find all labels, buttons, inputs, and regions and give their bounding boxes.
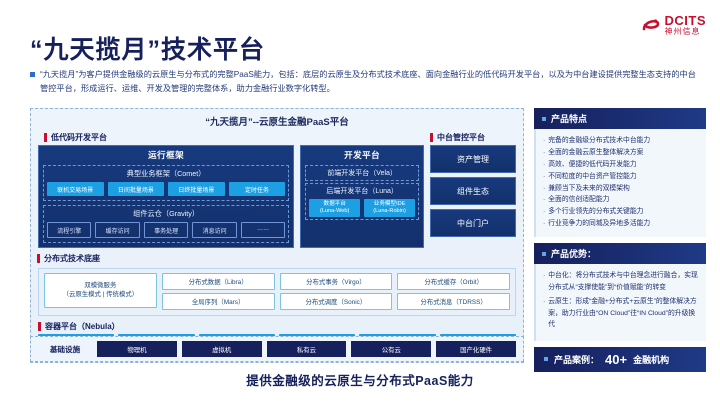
runtime-framework-block: 运行框架 典型业务框架（Comet） 联机交易场景 日间批量场景 日终批量场景 … bbox=[38, 145, 294, 248]
base-col-transaction: 分布式事务（Virgo） 分布式调度（Sonic） bbox=[280, 273, 393, 310]
infrastructure-strip: 基础设施 物理机 虚拟机 私有云 公有云 国产化硬件 bbox=[30, 336, 524, 362]
infra-item-domestic-hardware[interactable]: 国产化硬件 bbox=[436, 341, 516, 357]
product-features-body: 完备的金融级分布式技术中台能力 全面的金融云原生整体解决方案 高效、便捷的低代码… bbox=[534, 129, 706, 237]
page-title: “九天揽月”技术平台 bbox=[30, 30, 265, 66]
control-platform-column: 资产管理 组件生态 中台门户 bbox=[430, 145, 516, 248]
base-cell-orbit[interactable]: 分布式缓存（Orbit） bbox=[397, 273, 510, 290]
section-label-control: 中台管控平台 bbox=[430, 132, 516, 143]
feature-item: 行业竞争力的同城及异地多活能力 bbox=[543, 218, 699, 230]
backend-dev-children: 数据平台 (Luna-Web) 业务模型IDE (Luna-Robin) bbox=[309, 199, 415, 217]
product-cases-suffix: 金融机构 bbox=[633, 353, 669, 366]
comet-chip[interactable]: 日间批量场景 bbox=[108, 182, 165, 196]
base-col-dualmode: 双模微服务 （云原生模式 | 传统模式） bbox=[44, 273, 157, 310]
product-advantages-body: 中台化：将分布式技术与中台理念进行融合，实现分布式从“支撑使能”到“价值赋能”的… bbox=[534, 264, 706, 341]
base-cell-tdrss[interactable]: 分布式消息（TDRSS） bbox=[397, 293, 510, 310]
comet-title: 典型业务框架（Comet） bbox=[47, 168, 285, 182]
dual-mode-microservice[interactable]: 双模微服务 （云原生模式 | 传统模式） bbox=[44, 273, 157, 308]
comet-chip[interactable]: 联机交易场景 bbox=[47, 182, 104, 196]
luna-web-chip[interactable]: 数据平台 (Luna-Web) bbox=[309, 199, 360, 217]
section-label-lowcode: 低代码开发平台 bbox=[44, 132, 424, 143]
product-features-title: 产品特点 bbox=[534, 108, 706, 129]
intro-text: “九天揽月”为客户提供金融级的云原生与分布式的完整PaaS能力，包括：底层的云原… bbox=[40, 68, 702, 95]
diagram-title: “九天揽月”--云原生金融PaaS平台 bbox=[31, 109, 523, 131]
base-cell-virgo[interactable]: 分布式事务（Virgo） bbox=[280, 273, 393, 290]
luna-robin-line2: (Luna-Robin) bbox=[373, 208, 406, 214]
base-col-cache: 分布式缓存（Orbit） 分布式消息（TDRSS） bbox=[397, 273, 510, 310]
base-cell-mars[interactable]: 全局序列（Mars） bbox=[162, 293, 275, 310]
right-rail: 产品特点 完备的金融级分布式技术中台能力 全面的金融云原生整体解决方案 高效、便… bbox=[534, 108, 706, 372]
base-cell-sonic[interactable]: 分布式调度（Sonic） bbox=[280, 293, 393, 310]
comet-chip[interactable]: 日终批量场景 bbox=[168, 182, 225, 196]
feature-item: 全面的金融云原生整体解决方案 bbox=[543, 147, 699, 159]
bullet-square-icon bbox=[30, 72, 35, 77]
brand-logo: DCITS 神州信息 bbox=[641, 14, 707, 36]
comet-chip[interactable]: 定时任务 bbox=[229, 182, 286, 196]
dcits-swirl-logo-icon bbox=[641, 15, 661, 35]
gravity-group: 组件云仓（Gravity） 流程引擎 缓存访问 事务处理 消息访问 …… bbox=[43, 205, 289, 243]
product-advantages-title: 产品优势： bbox=[534, 243, 706, 264]
feature-item: 不同粒度的中台资产管控能力 bbox=[543, 171, 699, 183]
gravity-title: 组件云仓（Gravity） bbox=[47, 208, 285, 222]
base-cell-libra[interactable]: 分布式数据（Libra） bbox=[162, 273, 275, 290]
frontend-dev-platform[interactable]: 前端开发平台（Vela） bbox=[305, 165, 419, 181]
gravity-chip-row: 流程引擎 缓存访问 事务处理 消息访问 …… bbox=[47, 222, 285, 238]
dual-mode-line2: （云原生模式 | 传统模式） bbox=[63, 291, 139, 298]
feature-item: 完备的金融级分布式技术中台能力 bbox=[543, 135, 699, 147]
feature-item: 多个行业领先的分布式关键能力 bbox=[543, 206, 699, 218]
gravity-chip[interactable]: 缓存访问 bbox=[95, 222, 139, 238]
product-advantages-card: 产品优势： 中台化：将分布式技术与中台理念进行融合，实现分布式从“支撑使能”到“… bbox=[534, 243, 706, 341]
luna-web-line2: (Luna-Web) bbox=[320, 208, 349, 214]
infra-item-private-cloud[interactable]: 私有云 bbox=[267, 341, 347, 357]
luna-robin-line1: 业务模型IDE bbox=[374, 201, 406, 207]
comet-group: 典型业务框架（Comet） 联机交易场景 日间批量场景 日终批量场景 定时任务 bbox=[43, 165, 289, 201]
advantage-item: 云原生：形成“金融+分布式+云原生”的整体解决方案，助力行业由“ON Cloud… bbox=[543, 296, 699, 331]
advantage-item: 中台化：将分布式技术与中台理念进行融合，实现分布式从“支撑使能”到“价值赋能”的… bbox=[543, 270, 699, 293]
dev-platform-title: 开发平台 bbox=[301, 146, 423, 163]
infra-item-public-cloud[interactable]: 公有云 bbox=[351, 341, 431, 357]
backend-dev-platform: 后端开发平台（Luna） 数据平台 (Luna-Web) 业务模型IDE (Lu… bbox=[305, 183, 419, 220]
gravity-chip[interactable]: 流程引擎 bbox=[47, 222, 91, 238]
slide-root: DCITS 神州信息 “九天揽月”技术平台 “九天揽月”为客户提供金融级的云原生… bbox=[0, 0, 720, 405]
infra-item-physical[interactable]: 物理机 bbox=[97, 341, 177, 357]
feature-item: 兼顾当下及未来的双模架构 bbox=[543, 183, 699, 195]
product-cases-title: 产品案例： bbox=[554, 353, 599, 366]
luna-web-line1: 数据平台 bbox=[323, 201, 345, 207]
gravity-chip[interactable]: …… bbox=[241, 222, 285, 238]
brand-text: DCITS 神州信息 bbox=[665, 14, 707, 36]
feature-item: 全面的信创适配能力 bbox=[543, 194, 699, 206]
section-label-container: 容器平台（Nebula） bbox=[38, 321, 516, 332]
footer-caption: 提供金融级的云原生与分布式PaaS能力 bbox=[0, 370, 720, 389]
infrastructure-label: 基础设施 bbox=[38, 344, 92, 355]
comet-chip-row: 联机交易场景 日间批量场景 日终批量场景 定时任务 bbox=[47, 182, 285, 196]
intro-paragraph: “九天揽月”为客户提供金融级的云原生与分布式的完整PaaS能力，包括：底层的云原… bbox=[30, 68, 702, 95]
control-item-component[interactable]: 组件生态 bbox=[430, 177, 516, 205]
gravity-chip[interactable]: 事务处理 bbox=[144, 222, 188, 238]
product-cases-card: 产品案例： 40+ 金融机构 bbox=[534, 347, 706, 372]
control-item-portal[interactable]: 中台门户 bbox=[430, 209, 516, 237]
brand-en: DCITS bbox=[665, 14, 707, 27]
distributed-base-row: 双模微服务 （云原生模式 | 传统模式） 分布式数据（Libra） 全局序列（M… bbox=[44, 273, 510, 310]
dual-mode-line1: 双模微服务 bbox=[84, 282, 116, 289]
section-label-base: 分布式技术底座 bbox=[37, 253, 523, 264]
architecture-diagram: “九天揽月”--云原生金融PaaS平台 低代码开发平台 中台管控平台 运行框架 … bbox=[30, 108, 524, 363]
feature-item: 高效、便捷的低代码开发能力 bbox=[543, 159, 699, 171]
lowcode-and-control-row: 运行框架 典型业务框架（Comet） 联机交易场景 日间批量场景 日终批量场景 … bbox=[31, 145, 523, 248]
dev-platform-block: 开发平台 前端开发平台（Vela） 后端开发平台（Luna） 数据平台 (Lun… bbox=[300, 145, 424, 248]
product-features-card: 产品特点 完备的金融级分布式技术中台能力 全面的金融云原生整体解决方案 高效、便… bbox=[534, 108, 706, 237]
gravity-chip[interactable]: 消息访问 bbox=[192, 222, 236, 238]
distributed-base-block: 双模微服务 （云原生模式 | 传统模式） 分布式数据（Libra） 全局序列（M… bbox=[38, 268, 516, 316]
control-item-asset[interactable]: 资产管理 bbox=[430, 145, 516, 173]
infra-item-virtual[interactable]: 虚拟机 bbox=[182, 341, 262, 357]
runtime-framework-title: 运行框架 bbox=[39, 146, 293, 163]
base-col-data: 分布式数据（Libra） 全局序列（Mars） bbox=[162, 273, 275, 310]
luna-robin-chip[interactable]: 业务模型IDE (Luna-Robin) bbox=[364, 199, 415, 217]
product-cases-number: 40+ bbox=[605, 352, 627, 367]
backend-dev-platform-label: 后端开发平台（Luna） bbox=[326, 188, 398, 195]
brand-cn: 神州信息 bbox=[665, 28, 707, 36]
